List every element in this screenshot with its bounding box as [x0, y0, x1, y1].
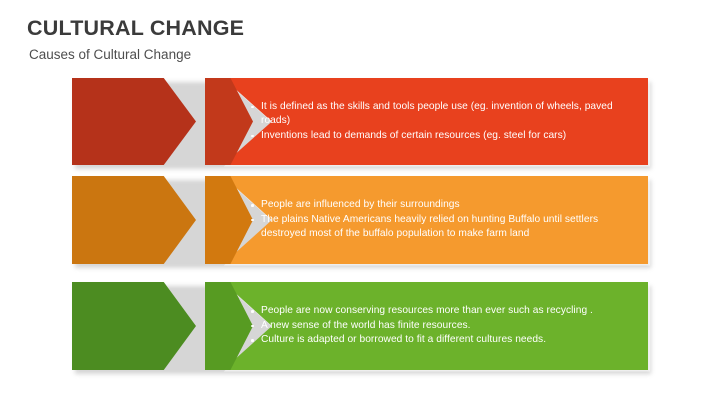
bullet-item: Culture is adapted or borrowed to fit a … — [250, 333, 634, 347]
bullet-list: It is defined as the skills and tools pe… — [250, 78, 640, 165]
bullet-item: People are influenced by their surroundi… — [250, 198, 634, 212]
bullet-list: People are influenced by their surroundi… — [250, 176, 640, 264]
process-row[interactable]: Changing EnvironmentPeople are influence… — [72, 176, 648, 264]
bullet-item: Inventions lead to demands of certain re… — [250, 129, 634, 143]
bullet-list: People are now conserving resources more… — [250, 282, 640, 370]
page-subtitle: Causes of Cultural Change — [29, 47, 191, 62]
process-row[interactable]: TechnologyIt is defined as the skills an… — [72, 78, 648, 165]
process-row[interactable]: New IdeasPeople are now conserving resou… — [72, 282, 648, 370]
bullet-item: The plains Native Americans heavily reli… — [250, 213, 634, 242]
page-title: CULTURAL CHANGE — [27, 16, 244, 41]
bullet-item: A new sense of the world has finite reso… — [250, 319, 634, 333]
bullet-item: People are now conserving resources more… — [250, 304, 634, 318]
bullet-item: It is defined as the skills and tools pe… — [250, 100, 634, 129]
slide-canvas: CULTURAL CHANGE Causes of Cultural Chang… — [0, 0, 720, 404]
